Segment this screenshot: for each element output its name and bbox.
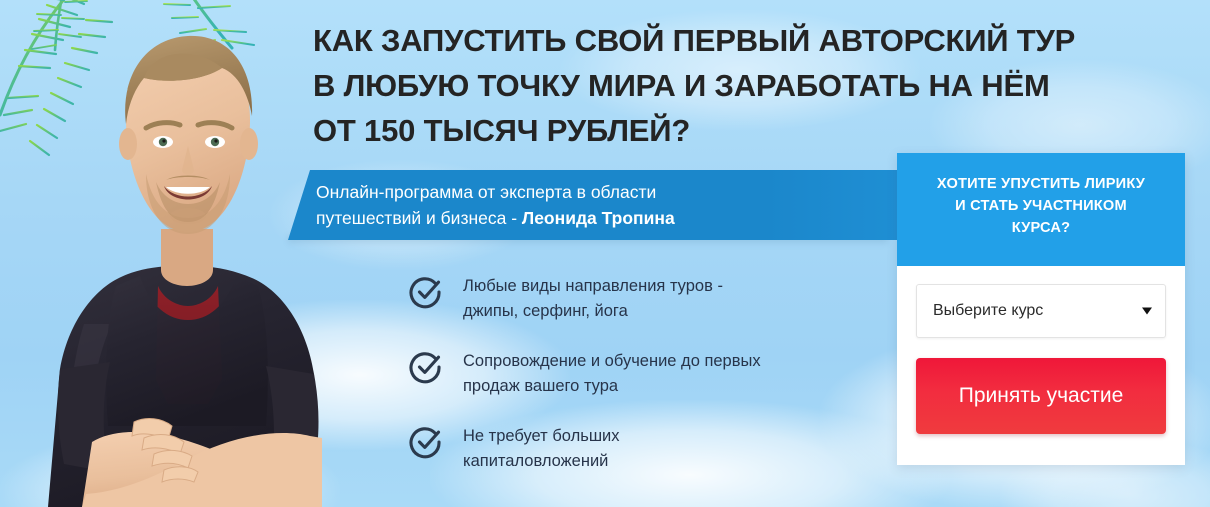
feature-list: Любые виды направления туров - джипы, се… bbox=[408, 272, 878, 474]
bullet-2-line-1: Сопровождение и обучение до первых bbox=[463, 352, 761, 370]
ribbon-line-2: путешествий и бизнеса - Леонида Тропина bbox=[316, 205, 876, 231]
form-heading-line-1: ХОТИТЕ УПУСТИТЬ ЛИРИКУ bbox=[909, 173, 1173, 195]
submit-button[interactable]: Принять участие bbox=[916, 358, 1166, 434]
signup-form-panel: ХОТИТЕ УПУСТИТЬ ЛИРИКУ И СТАТЬ УЧАСТНИКО… bbox=[897, 153, 1185, 465]
hero-banner: КАК ЗАПУСТИТЬ СВОЙ ПЕРВЫЙ АВТОРСКИЙ ТУР … bbox=[0, 0, 1210, 507]
check-circle-icon bbox=[408, 274, 444, 310]
ribbon-line-2-prefix: путешествий и бизнеса - bbox=[316, 208, 522, 228]
expert-name: Леонида Тропина bbox=[522, 208, 675, 228]
bullet-2-line-2: продаж вашего тура bbox=[463, 377, 618, 395]
list-item-text: Любые виды направления туров - джипы, се… bbox=[463, 272, 723, 324]
headline-line-2: В ЛЮБУЮ ТОЧКУ МИРА И ЗАРАБОТАТЬ НА НЁМ bbox=[313, 63, 1183, 108]
ribbon-text: Онлайн-программа от эксперта в области п… bbox=[316, 179, 876, 231]
check-circle-icon bbox=[408, 424, 444, 460]
form-body: Выберите курс Принять участие bbox=[897, 266, 1185, 434]
form-heading-line-3: КУРСА? bbox=[909, 217, 1173, 239]
subtitle-ribbon: Онлайн-программа от эксперта в области п… bbox=[284, 170, 904, 240]
headline-line-1: КАК ЗАПУСТИТЬ СВОЙ ПЕРВЫЙ АВТОРСКИЙ ТУР bbox=[313, 18, 1183, 63]
bullet-3-line-1: Не требует больших bbox=[463, 427, 620, 445]
bullet-1-line-2: джипы, серфинг, йога bbox=[463, 302, 628, 320]
list-item-text: Сопровождение и обучение до первых прода… bbox=[463, 347, 761, 399]
list-item: Сопровождение и обучение до первых прода… bbox=[408, 347, 878, 399]
course-select-value: Выберите курс bbox=[933, 302, 1043, 320]
chevron-down-icon[interactable] bbox=[1142, 308, 1152, 315]
course-select[interactable]: Выберите курс bbox=[916, 284, 1166, 338]
form-heading-line-2: И СТАТЬ УЧАСТНИКОМ bbox=[909, 195, 1173, 217]
headline-line-3: ОТ 150 ТЫСЯЧ РУБЛЕЙ? bbox=[313, 108, 1183, 153]
check-circle-icon bbox=[408, 349, 444, 385]
list-item-text: Не требует больших капиталовложений bbox=[463, 422, 620, 474]
form-heading: ХОТИТЕ УПУСТИТЬ ЛИРИКУ И СТАТЬ УЧАСТНИКО… bbox=[897, 153, 1185, 266]
page-title: КАК ЗАПУСТИТЬ СВОЙ ПЕРВЫЙ АВТОРСКИЙ ТУР … bbox=[313, 18, 1183, 153]
smiling-man-photo bbox=[22, 24, 352, 507]
bullet-1-line-1: Любые виды направления туров - bbox=[463, 277, 723, 295]
bullet-3-line-2: капиталовложений bbox=[463, 452, 608, 470]
list-item: Не требует больших капиталовложений bbox=[408, 422, 878, 474]
list-item: Любые виды направления туров - джипы, се… bbox=[408, 272, 878, 324]
ribbon-line-1: Онлайн-программа от эксперта в области bbox=[316, 179, 876, 205]
